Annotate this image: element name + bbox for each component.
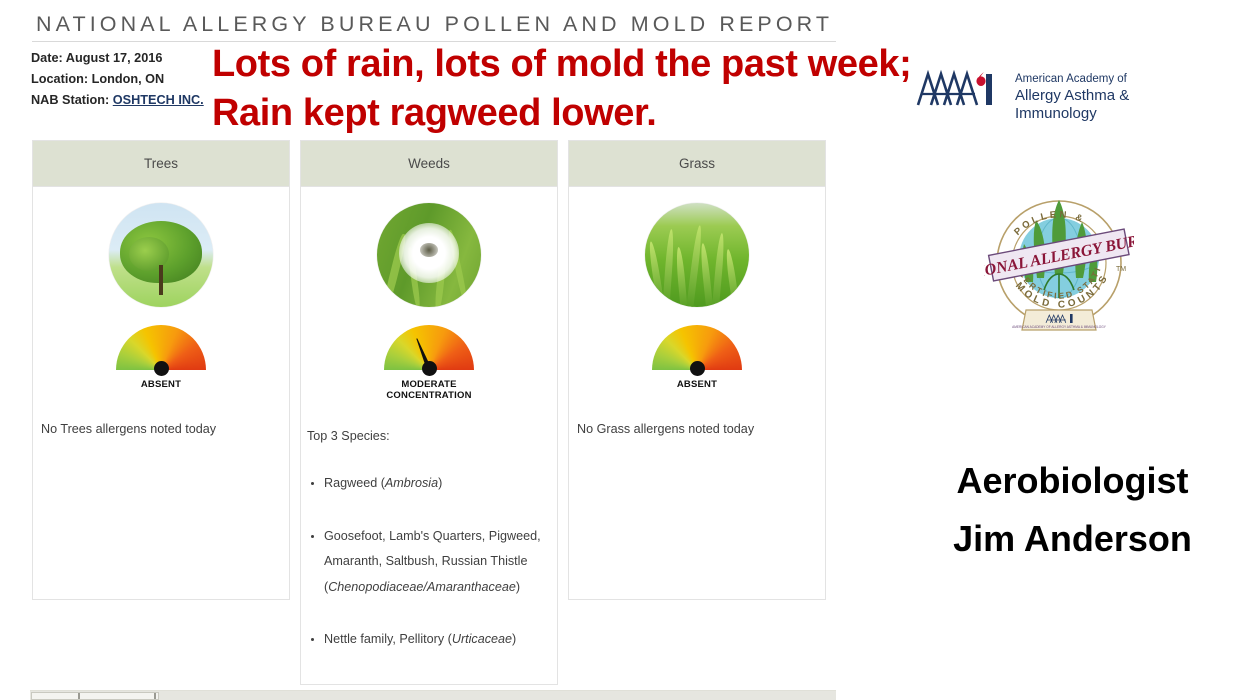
card-text-trees: No Trees allergens noted today: [33, 420, 289, 438]
aaaai-mark-icon: [915, 68, 1005, 108]
card-header-grass: Grass: [569, 141, 825, 187]
aerobiologist-role: Aerobiologist: [880, 452, 1244, 510]
species-tail-1: ): [516, 580, 520, 594]
report-date: Date: August 17, 2016: [31, 48, 231, 69]
gauge-dial-grass: [652, 325, 742, 371]
scrollbar-thumb[interactable]: [31, 692, 159, 700]
card-header-trees: Trees: [33, 141, 289, 187]
station-prefix: NAB Station:: [31, 93, 113, 107]
aaaai-line-1: American Academy of: [1015, 72, 1205, 87]
report-meta: Date: August 17, 2016 Location: London, …: [31, 48, 231, 111]
tree-photo-icon: [109, 203, 213, 307]
gauge-dial-trees: [116, 325, 206, 371]
species-common-2: Nettle family, Pellitory (: [324, 632, 452, 646]
station-link[interactable]: OSHTECH INC.: [113, 93, 204, 107]
species-tail-0: ): [438, 476, 442, 490]
list-item: Nettle family, Pellitory (Urticaceae): [324, 627, 549, 653]
species-common-0: Ragweed (: [324, 476, 385, 490]
aerobiologist-block: Aerobiologist Jim Anderson: [880, 452, 1244, 568]
nab-certified-seal: POLLEN & MOLD COUNTS CERTIFIED STATION N…: [984, 178, 1134, 333]
gauge-weeds: MODERATE CONCENTRATION: [301, 325, 557, 401]
aerobiologist-name: Jim Anderson: [880, 510, 1244, 568]
list-item: Goosefoot, Lamb's Quarters, Pigweed, Ama…: [324, 524, 549, 601]
dandelion-photo-icon: [377, 203, 481, 307]
gauge-label-grass: ABSENT: [677, 379, 717, 390]
species-heading: Top 3 Species:: [307, 427, 549, 445]
gauge-trees: ABSENT: [33, 325, 289, 390]
photo-wrap-grass: [569, 203, 825, 307]
svg-text:AMERICAN ACADEMY OF ALLERGY AS: AMERICAN ACADEMY OF ALLERGY ASTHMA & IMM…: [1012, 325, 1107, 329]
card-weeds: Weeds: [300, 140, 558, 685]
page-title: NATIONAL ALLERGY BUREAU POLLEN AND MOLD …: [36, 12, 833, 37]
headline: Lots of rain, lots of mold the past week…: [212, 40, 912, 138]
gauge-dial-weeds: [384, 325, 474, 371]
species-tail-2: ): [512, 632, 516, 646]
gauge-label-weeds-line2: CONCENTRATION: [386, 390, 471, 401]
grass-photo-icon: [645, 203, 749, 307]
pollen-cards: Trees ABSENT No Trees allergens noted to…: [32, 140, 837, 685]
gauge-label-trees: ABSENT: [141, 379, 181, 390]
scrollbar-tick-left: [78, 693, 80, 699]
species-latin-2: Urticaceae: [452, 632, 512, 646]
aaaai-line-2: Allergy Asthma & Immunology: [1015, 87, 1205, 123]
aaaai-wordmark: American Academy of Allergy Asthma & Imm…: [1015, 72, 1205, 123]
card-body-trees: ABSENT No Trees allergens noted today: [33, 203, 289, 438]
card-text-grass: No Grass allergens noted today: [569, 420, 825, 438]
species-list: Ragweed (Ambrosia) Goosefoot, Lamb's Qua…: [307, 471, 549, 653]
scrollbar-tick-right: [154, 693, 156, 699]
report-location: Location: London, ON: [31, 69, 231, 90]
photo-wrap-trees: [33, 203, 289, 307]
photo-wrap-weeds: [301, 203, 557, 307]
nab-seal-icon: POLLEN & MOLD COUNTS CERTIFIED STATION N…: [984, 178, 1134, 333]
card-grass: Grass: [568, 140, 826, 600]
gauge-label-weeds-line1: MODERATE: [386, 379, 471, 390]
seal-trademark: TM: [1116, 266, 1126, 273]
card-trees: Trees ABSENT No Trees allergens noted to…: [32, 140, 290, 600]
headline-line-2: Rain kept ragweed lower.: [212, 89, 912, 138]
species-latin-1: Chenopodiaceae/Amaranthaceae: [328, 580, 516, 594]
card-body-grass: ABSENT No Grass allergens noted today: [569, 203, 825, 438]
aaaai-logo: American Academy of Allergy Asthma & Imm…: [915, 68, 1205, 114]
horizontal-scrollbar[interactable]: [30, 690, 836, 700]
card-text-weeds: Top 3 Species: Ragweed (Ambrosia) Goosef…: [301, 427, 557, 653]
card-body-weeds: MODERATE CONCENTRATION Top 3 Species: Ra…: [301, 203, 557, 653]
gauge-grass: ABSENT: [569, 325, 825, 390]
list-item: Ragweed (Ambrosia): [324, 471, 549, 497]
report-station: NAB Station: OSHTECH INC.: [31, 90, 231, 111]
species-latin-0: Ambrosia: [385, 476, 438, 490]
card-header-weeds: Weeds: [301, 141, 557, 187]
gauge-label-weeds: MODERATE CONCENTRATION: [386, 379, 471, 401]
report-page: NATIONAL ALLERGY BUREAU POLLEN AND MOLD …: [0, 0, 1244, 700]
headline-line-1: Lots of rain, lots of mold the past week…: [212, 40, 912, 89]
